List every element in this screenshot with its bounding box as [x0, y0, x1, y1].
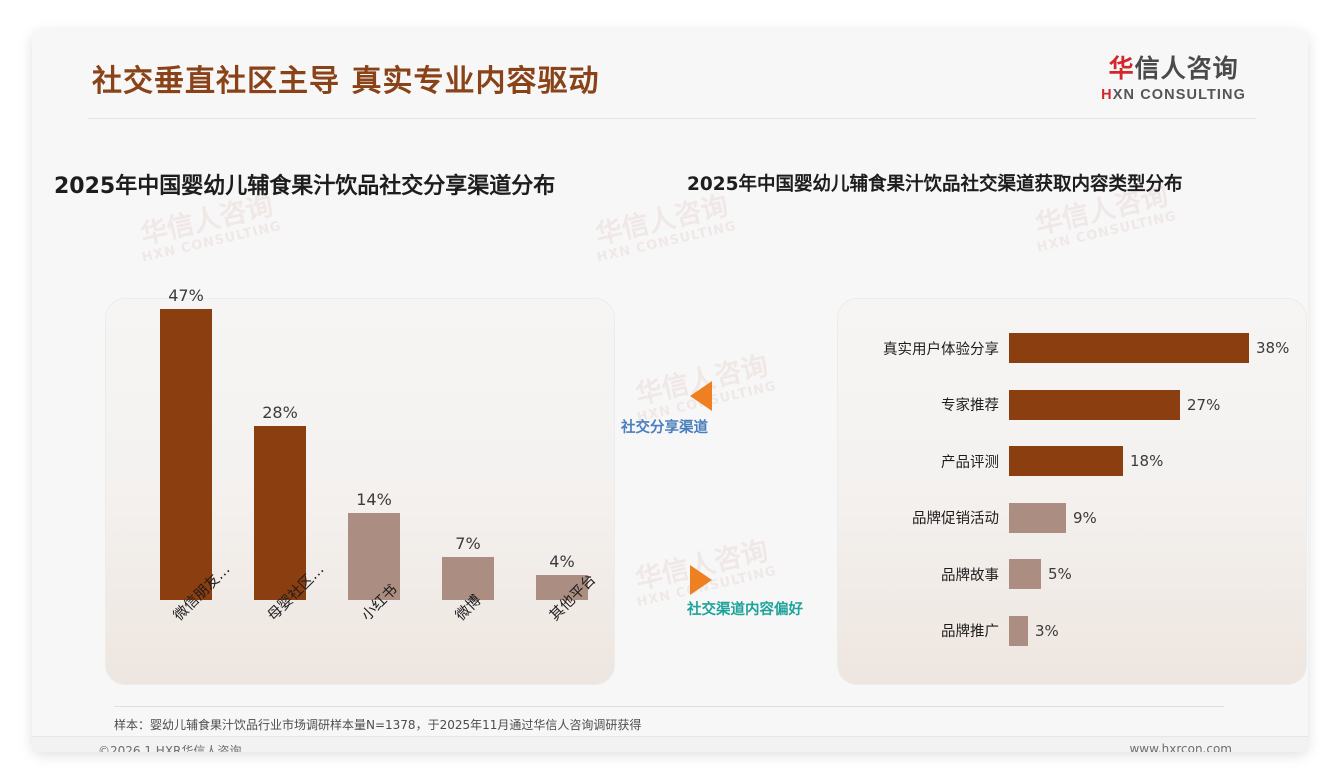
logo-accent-char: 华 [1109, 54, 1135, 83]
table-row: 专家推荐27% [837, 388, 1307, 422]
website-text: www.hxrcon.com [1129, 742, 1232, 752]
bar-value-label: 28% [262, 403, 298, 422]
watermark: 华信人咨询HXN CONSULTING [589, 189, 739, 266]
table-row: 品牌促销活动9% [837, 501, 1307, 535]
arrow-right-icon [690, 565, 712, 595]
logo-en-accent-char: H [1101, 87, 1113, 103]
logo-name-rest: 信人咨询 [1135, 54, 1239, 83]
header-divider [88, 118, 1256, 119]
social-share-channel-chart: 47%微信朋友…28%母婴社区…14%小红书7%微博4%其他平台 [105, 280, 615, 680]
company-logo: 华信人咨询 HXN CONSULTING [1101, 56, 1246, 103]
arrow-left-icon [690, 381, 712, 411]
bar-category-label: 品牌促销活动 [837, 507, 1009, 528]
logo-english-name: HXN CONSULTING [1101, 88, 1246, 103]
horizontal-bar [1009, 446, 1123, 476]
bar-column: 47%微信朋友… [160, 309, 212, 600]
footer-divider [32, 736, 1308, 737]
left-chart-title: 2025年中国婴幼儿辅食果汁饮品社交分享渠道分布 [54, 168, 555, 200]
bar-category-label: 专家推荐 [837, 394, 1009, 415]
horizontal-bar [1009, 390, 1180, 420]
bar-column: 28%母婴社区… [254, 426, 306, 600]
bar-value-label: 5% [1041, 565, 1072, 583]
table-row: 产品评测18% [837, 444, 1307, 478]
horizontal-bar [1009, 616, 1028, 646]
bar-value-label: 18% [1123, 452, 1163, 470]
bar-category-label: 产品评测 [837, 451, 1009, 472]
bar-value-label: 47% [168, 286, 204, 305]
bar-category-label: 品牌故事 [837, 564, 1009, 585]
bar-category-label: 真实用户体验分享 [837, 338, 1009, 359]
slide-header: 社交垂直社区主导 真实专业内容驱动 华信人咨询 HXN CONSULTING [32, 30, 1308, 118]
bar-value-label: 38% [1249, 339, 1289, 357]
bar-column: 14%小红书 [348, 513, 400, 600]
bar-value-label: 9% [1066, 509, 1097, 527]
vertical-bar [160, 309, 212, 600]
bar-value-label: 4% [549, 552, 574, 571]
bar-category-label: 品牌推广 [837, 620, 1009, 641]
bar-value-label: 7% [455, 534, 480, 553]
bar-value-label: 27% [1180, 396, 1220, 414]
bar-value-label: 14% [356, 490, 392, 509]
horizontal-bar [1009, 559, 1041, 589]
horizontal-bar [1009, 503, 1066, 533]
logo-chinese-name: 华信人咨询 [1101, 56, 1246, 81]
table-row: 品牌推广3% [837, 614, 1307, 648]
content-type-chart: 真实用户体验分享38%专家推荐27%产品评测18%品牌促销活动9%品牌故事5%品… [837, 298, 1307, 685]
sample-footnote: 样本：婴幼儿辅食果汁饮品行业市场调研样本量N=1378，于2025年11月通过华… [114, 716, 641, 733]
footnote-divider [114, 706, 1224, 707]
watermark: 华信人咨询HXN CONSULTING [134, 189, 284, 266]
table-row: 品牌故事5% [837, 557, 1307, 591]
callout-share-channel: 社交分享渠道 [621, 416, 708, 437]
right-chart-title: 2025年中国婴幼儿辅食果汁饮品社交渠道获取内容类型分布 [687, 170, 1183, 196]
callout-content-preference: 社交渠道内容偏好 [687, 598, 803, 619]
logo-en-rest: XN CONSULTING [1113, 87, 1246, 103]
horizontal-bar [1009, 333, 1249, 363]
slide-canvas: 社交垂直社区主导 真实专业内容驱动 华信人咨询 HXN CONSULTING 2… [32, 30, 1308, 752]
copyright-text: ©2026.1 HXR华信人咨询 [98, 742, 241, 752]
bar-column: 7%微博 [442, 557, 494, 600]
table-row: 真实用户体验分享38% [837, 331, 1307, 365]
bar-column: 4%其他平台 [536, 575, 588, 600]
page-title: 社交垂直社区主导 真实专业内容驱动 [92, 56, 599, 100]
bar-value-label: 3% [1028, 622, 1059, 640]
